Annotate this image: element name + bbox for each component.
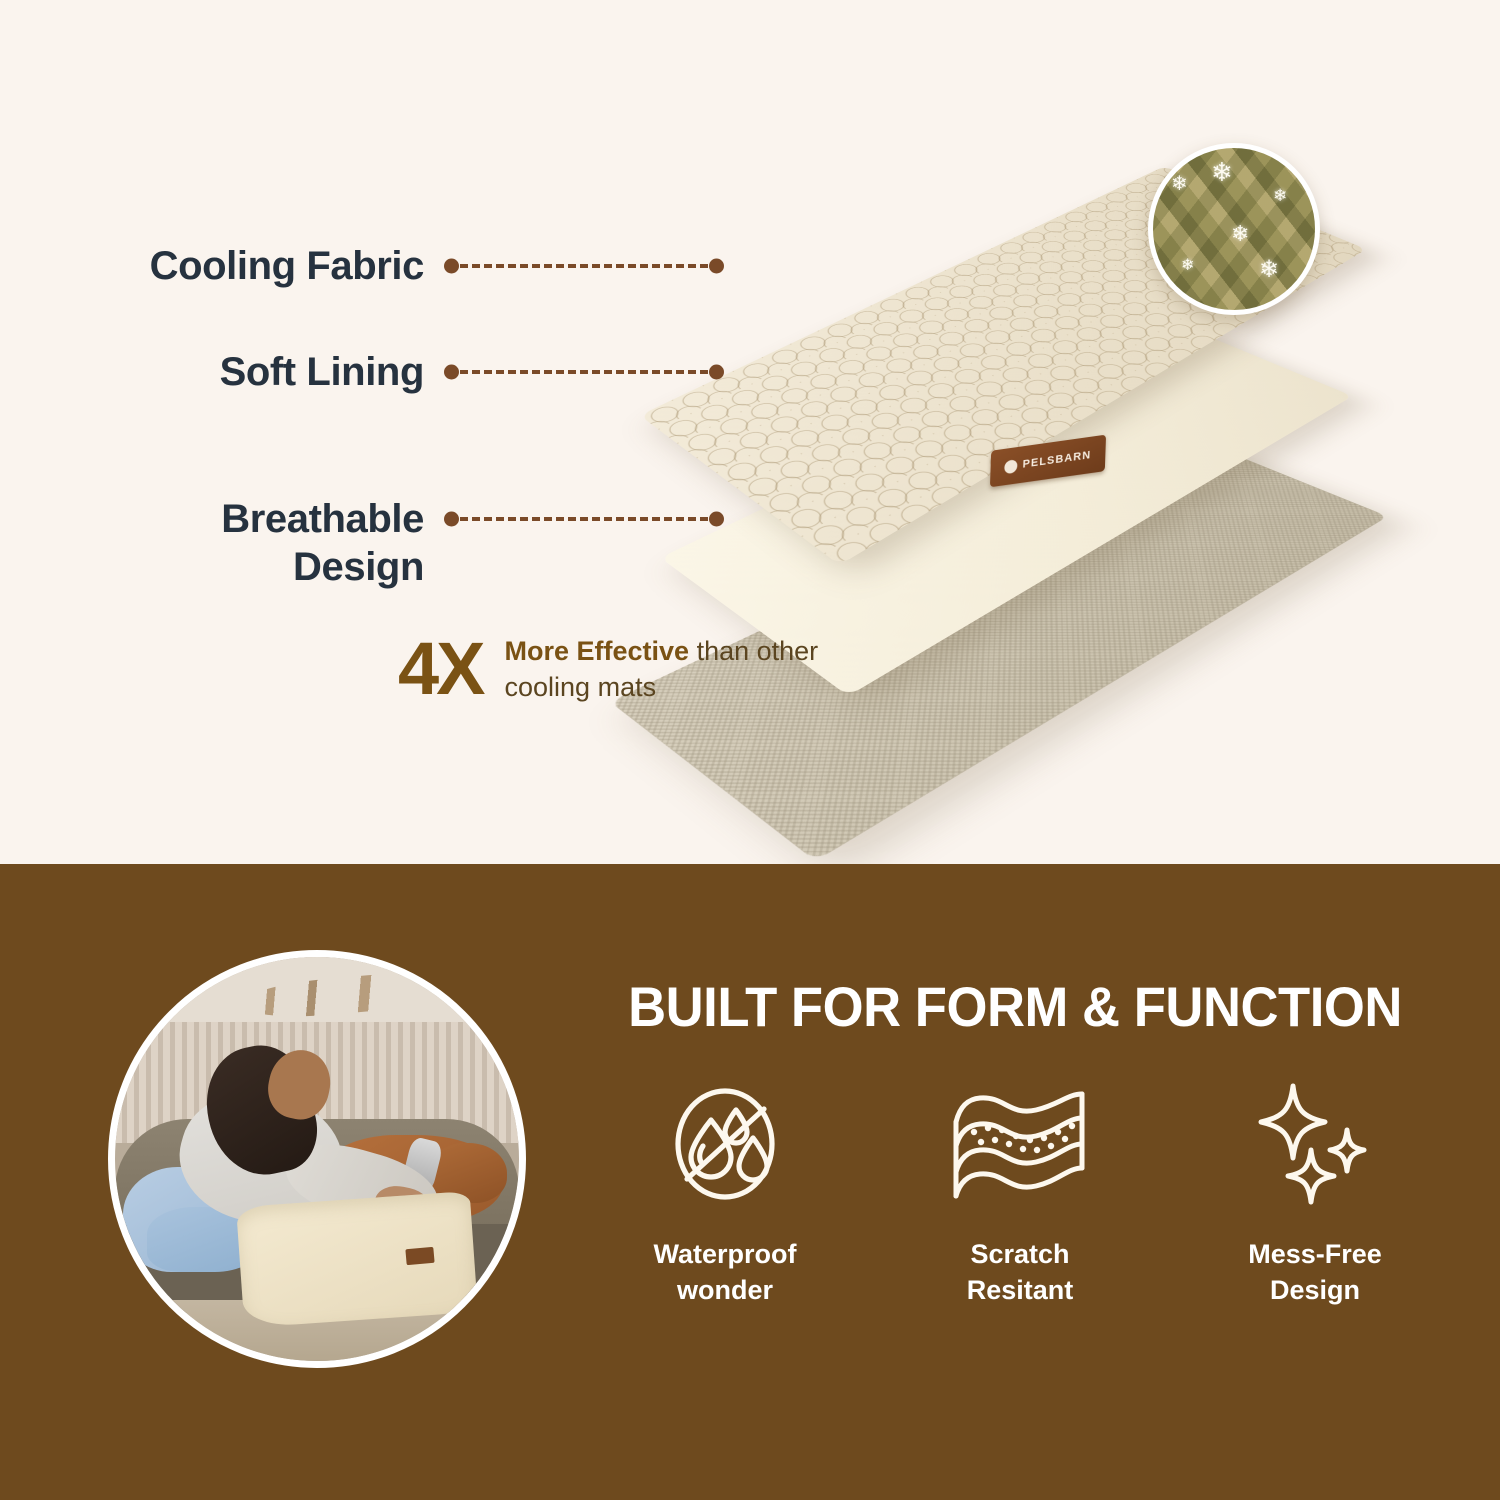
sparkles-icon	[1251, 1074, 1379, 1214]
feature-label-mess-free: Mess-Free Design	[1248, 1236, 1382, 1308]
spec-label-soft-lining: Soft Lining	[104, 348, 424, 396]
snowflake-icon: ❄	[1259, 260, 1279, 280]
no-water-drops-icon	[661, 1074, 789, 1214]
effectiveness-callout: 4X More Effective than other cooling mat…	[398, 632, 835, 706]
leader-dot-start	[444, 259, 459, 274]
callout-bold-text: More Effective	[505, 636, 690, 666]
snowflake-icon: ❄	[1231, 224, 1249, 244]
spec-row-soft-lining: Soft Lining	[104, 348, 720, 396]
snowflake-icon: ❄	[1181, 256, 1194, 276]
leader-dot-start	[444, 512, 459, 527]
benefits-section: BUILT FOR FORM & FUNCTION Waterproof won…	[0, 864, 1500, 1500]
spec-label-cooling-fabric: Cooling Fabric	[104, 242, 424, 290]
leader-dash	[448, 264, 720, 268]
leader-dash	[448, 370, 720, 374]
spec-row-breathable-design: Breathable Design	[104, 495, 720, 591]
feature-label-waterproof: Waterproof wonder	[654, 1236, 797, 1308]
feature-waterproof: Waterproof wonder	[600, 1074, 850, 1308]
spec-label-breathable-design: Breathable Design	[104, 495, 424, 591]
snowflake-icon: ❄	[1211, 162, 1233, 182]
leader-dot-end	[709, 259, 724, 274]
leader-dot-start	[444, 365, 459, 380]
leader-line-cooling-fabric	[448, 242, 720, 290]
leader-line-breathable-design	[448, 495, 720, 543]
callout-multiplier: 4X	[398, 632, 483, 706]
feature-mess-free: Mess-Free Design	[1190, 1074, 1440, 1308]
feature-list: Waterproof wonder	[600, 1074, 1440, 1308]
feature-scratch-resistant: Scratch Resitant	[895, 1074, 1145, 1308]
photo-mat-brand-tag	[405, 1247, 435, 1266]
leader-dot-end	[709, 365, 724, 380]
callout-text: More Effective than other cooling mats	[505, 633, 835, 705]
woven-fabric-macro-circle: ❄ ❄ ❄ ❄ ❄ ❄	[1148, 143, 1320, 315]
feature-label-scratch-resistant: Scratch Resitant	[967, 1236, 1074, 1308]
photo-cooling-mat	[236, 1191, 478, 1328]
brand-name: PELSBARN	[1022, 449, 1091, 471]
wavy-fabric-layers-icon	[946, 1074, 1094, 1214]
lifestyle-photo	[108, 950, 526, 1368]
snowflake-icon: ❄	[1171, 174, 1188, 194]
spec-row-cooling-fabric: Cooling Fabric	[104, 242, 720, 290]
leader-dot-end	[709, 512, 724, 527]
snowflake-icon: ❄	[1273, 186, 1287, 206]
section-headline: BUILT FOR FORM & FUNCTION	[606, 974, 1424, 1039]
brand-logo-icon	[1005, 459, 1018, 474]
product-layers-section: PELSBARN ❄ ❄ ❄ ❄ ❄ ❄ Cooling Fabric Soft…	[0, 0, 1500, 864]
leader-dash	[448, 517, 720, 521]
leader-line-soft-lining	[448, 348, 720, 396]
